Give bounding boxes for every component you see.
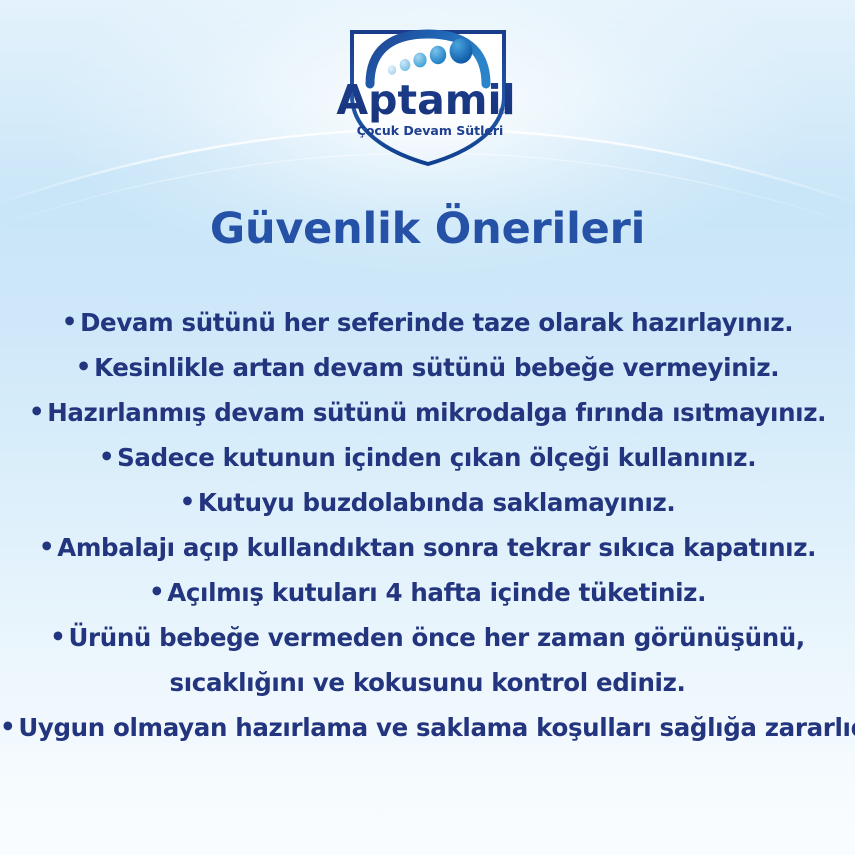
logo-dot-3 xyxy=(413,53,426,68)
list-item-text: Hazırlanmış devam sütünü mikrodalga fırı… xyxy=(47,398,826,427)
page-title: Güvenlik Önerileri xyxy=(0,206,855,253)
list-item: •Ambalajı açıp kullandıktan sonra tekrar… xyxy=(0,525,855,570)
bullet-icon: • xyxy=(62,310,77,335)
logo-wordmark: Aptamil xyxy=(336,76,515,124)
list-item: •Uygun olmayan hazırlama ve saklama koşu… xyxy=(0,705,855,750)
bullet-icon: • xyxy=(76,355,91,380)
bullet-icon: • xyxy=(180,490,195,515)
bullet-icon: • xyxy=(99,445,114,470)
list-item: •Ürünü bebeğe vermeden önce her zaman gö… xyxy=(0,615,855,660)
list-item-text: Açılmış kutuları 4 hafta içinde tüketini… xyxy=(167,578,706,607)
safety-tips-list: •Devam sütünü her seferinde taze olarak … xyxy=(0,300,855,750)
list-item-continuation: sıcaklığını ve kokusunu kontrol ediniz. xyxy=(0,660,855,705)
logo-dot-5 xyxy=(449,38,472,63)
logo-dot-1 xyxy=(387,65,395,75)
list-item-text: sıcaklığını ve kokusunu kontrol ediniz. xyxy=(170,668,686,697)
poster-canvas: Aptamil ® Çocuk Devam Sütleri Güvenlik Ö… xyxy=(0,0,855,855)
bullet-icon: • xyxy=(50,625,65,650)
list-item: •Devam sütünü her seferinde taze olarak … xyxy=(0,300,855,345)
logo-tagline: Çocuk Devam Sütleri xyxy=(356,123,503,138)
list-item-text: Ambalajı açıp kullandıktan sonra tekrar … xyxy=(57,533,816,562)
list-item: •Kesinlikle artan devam sütünü bebeğe ve… xyxy=(0,345,855,390)
logo-registered-icon: ® xyxy=(497,107,506,117)
list-item-text: Uygun olmayan hazırlama ve saklama koşul… xyxy=(18,713,855,742)
list-item: •Açılmış kutuları 4 hafta içinde tüketin… xyxy=(0,570,855,615)
aptamil-logo-icon: Aptamil ® Çocuk Devam Sütleri xyxy=(330,18,526,168)
list-item: •Sadece kutunun içinden çıkan ölçeği kul… xyxy=(0,435,855,480)
bullet-icon: • xyxy=(39,535,54,560)
logo-dot-4 xyxy=(429,46,445,64)
list-item-text: Ürünü bebeğe vermeden önce her zaman gör… xyxy=(68,623,804,652)
list-item-text: Sadece kutunun içinden çıkan ölçeği kull… xyxy=(117,443,756,472)
list-item: •Kutuyu buzdolabında saklamayınız. xyxy=(0,480,855,525)
brand-logo: Aptamil ® Çocuk Devam Sütleri xyxy=(330,18,526,168)
list-item-text: Kutuyu buzdolabında saklamayınız. xyxy=(198,488,675,517)
bullet-icon: • xyxy=(0,715,15,740)
list-item-text: Kesinlikle artan devam sütünü bebeğe ver… xyxy=(94,353,779,382)
logo-dot-2 xyxy=(399,59,410,71)
bullet-icon: • xyxy=(149,580,164,605)
content-area: Güvenlik Önerileri •Devam sütünü her sef… xyxy=(0,206,855,750)
list-item: •Hazırlanmış devam sütünü mikrodalga fır… xyxy=(0,390,855,435)
list-item-text: Devam sütünü her seferinde taze olarak h… xyxy=(80,308,793,337)
bullet-icon: • xyxy=(29,400,44,425)
